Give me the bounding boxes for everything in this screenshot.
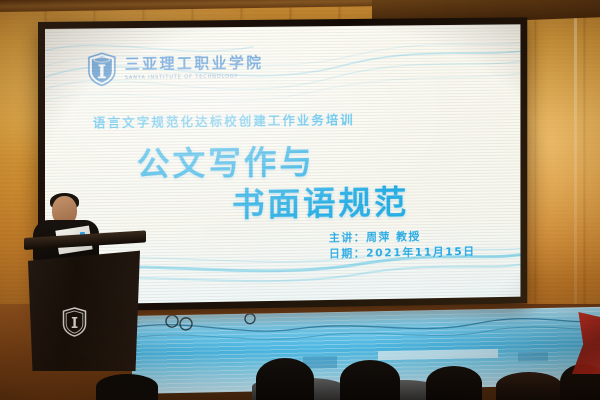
podium-shield-crest-icon bbox=[62, 307, 87, 337]
institution-name-en: SANYA INSTITUTE OF TECHNOLOGY bbox=[125, 73, 264, 81]
institution-logo: 三亚理工职业学院 SANYA INSTITUTE OF TECHNOLOGY bbox=[87, 51, 264, 87]
slide-meta-block: 主讲：周萍 教授 日期：2021年11月15日 bbox=[329, 228, 476, 262]
slide-subtitle: 语言文字规范化达标校创建工作业务培训 bbox=[93, 109, 355, 131]
audience-head bbox=[96, 374, 158, 400]
audience-head bbox=[496, 372, 562, 400]
shield-crest-icon bbox=[87, 52, 117, 86]
lecture-hall-photo: 三亚理工职业学院 SANYA INSTITUTE OF TECHNOLOGY 语… bbox=[0, 0, 600, 400]
date-line: 日期：2021年11月15日 bbox=[329, 244, 476, 262]
slide-title-line2: 书面语规范 bbox=[232, 176, 409, 226]
audience-head bbox=[426, 366, 482, 400]
audience-head bbox=[340, 360, 400, 400]
audience-head bbox=[256, 358, 314, 400]
institution-name-cn: 三亚理工职业学院 bbox=[125, 56, 264, 73]
